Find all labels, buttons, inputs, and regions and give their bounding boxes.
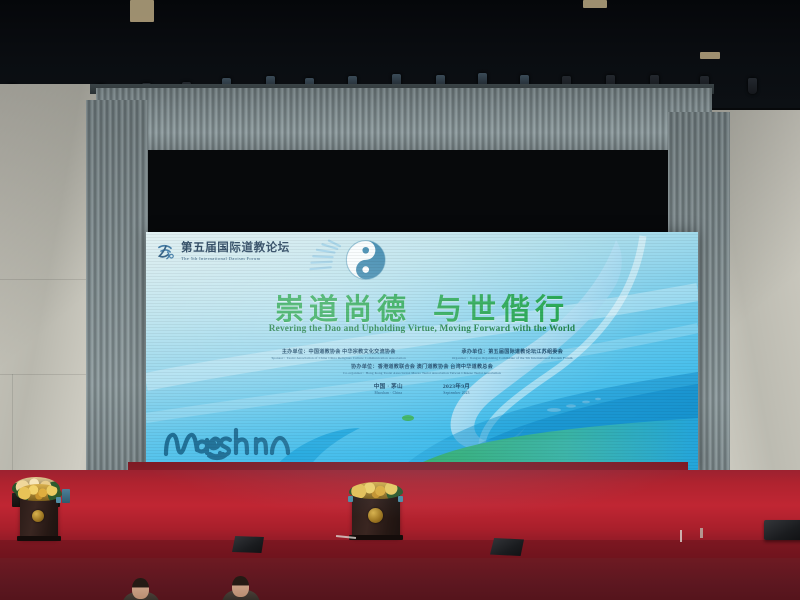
blue-equipment-box [62, 489, 70, 503]
place-date-row: 中国 · 茅山 Maoshan · China 2023年9月 Septembe… [146, 384, 698, 396]
floor-monitor-right [764, 520, 800, 540]
organizer-en: Organizer：Jiangsu Organizing Committee o… [452, 357, 573, 360]
organizer-sponsor: 主办单位：中国道教协会 中华宗教文化交流协会 Sponsor：Taoist As… [271, 350, 406, 360]
sponsor-cn: 主办单位：中国道教协会 中华宗教文化交流协会 [271, 350, 406, 355]
co-organizer-en: Co-organizer：Hong Kong Taoist Associatio… [343, 372, 501, 375]
date-cn: 2023年9月 [443, 384, 470, 390]
podium-mic-tag [56, 497, 61, 503]
banner-title-left: 崇道尚德 [275, 294, 411, 326]
stage-scene: 第五届国际道教论坛 The 5th International Daoism F… [0, 0, 800, 600]
forum-logo-en: The 5th International Daoism Forum [181, 257, 290, 262]
audience-head-right [232, 576, 249, 597]
co-organizer: 协办单位：香港道教联合会 澳门道教协会 台湾中华道教总会 Co-organize… [343, 365, 501, 375]
podium-mic-tag [348, 496, 353, 502]
banner-title: 崇道尚德与世偕行 [146, 286, 698, 328]
co-organizer-row: 协办单位：香港道教联合会 澳门道教协会 台湾中华道教总会 Co-organize… [146, 365, 698, 375]
audience-head-left [132, 578, 149, 599]
monitor-cable [680, 530, 682, 542]
daoism-forum-emblem-icon [156, 242, 176, 262]
organizer-cn: 承办单位：第五届国际道教论坛江苏组委会 [452, 350, 573, 355]
podium-mic-tag [398, 496, 403, 502]
gold-floral-arrangement [349, 482, 403, 499]
maoshan-wordmark-icon [160, 422, 300, 464]
organizer-row: 主办单位：中国道教协会 中华宗教文化交流协会 Sponsor：Taoist As… [146, 350, 698, 360]
date-block: 2023年9月 September 2023 [443, 384, 470, 396]
floor-monitor-left [232, 536, 264, 553]
bagua-rays-icon [311, 241, 340, 270]
podium-base [17, 536, 61, 541]
curtain-valance [96, 88, 712, 150]
banner-title-right: 与世偕行 [433, 294, 569, 326]
taiji-yinyang-icon [311, 241, 386, 280]
co-organizer-cn: 协办单位：香港道教联合会 澳门道教协会 台湾中华道教总会 [343, 365, 501, 370]
green-accent-dot-icon [402, 415, 414, 421]
podium-center[interactable] [352, 493, 400, 537]
ceiling-panel-far-right [700, 52, 720, 59]
place-cn: 中国 · 茅山 [374, 384, 403, 390]
forum-logo: 第五届国际道教论坛 The 5th International Daoism F… [156, 242, 290, 262]
forum-seal-icon [368, 508, 383, 523]
ceiling-panel-left [130, 0, 154, 22]
place-en: Maoshan · China [374, 392, 403, 396]
ceiling-panel-right [583, 0, 607, 8]
led-banner-screen[interactable]: 第五届国际道教论坛 The 5th International Daoism F… [146, 232, 698, 472]
stage-light [748, 78, 757, 94]
place-block: 中国 · 茅山 Maoshan · China [374, 384, 403, 396]
organizer-host: 承办单位：第五届国际道教论坛江苏组委会 Organizer：Jiangsu Or… [452, 350, 573, 360]
podium-base [349, 535, 403, 540]
floor-monitor-center [490, 538, 524, 556]
date-en: September 2023 [443, 392, 470, 396]
forum-seal-icon [32, 510, 44, 522]
stage-edge-cable [700, 528, 703, 538]
house-floor [0, 558, 800, 600]
sponsor-en: Sponsor：Taoist Association of China Chin… [271, 357, 406, 360]
podium-left[interactable] [20, 495, 58, 538]
banner-subtitle: Revering the Dao and Upholding Virtue, M… [146, 324, 698, 334]
forum-logo-cn: 第五届国际道教论坛 [181, 243, 290, 255]
curtain-left [86, 100, 148, 496]
